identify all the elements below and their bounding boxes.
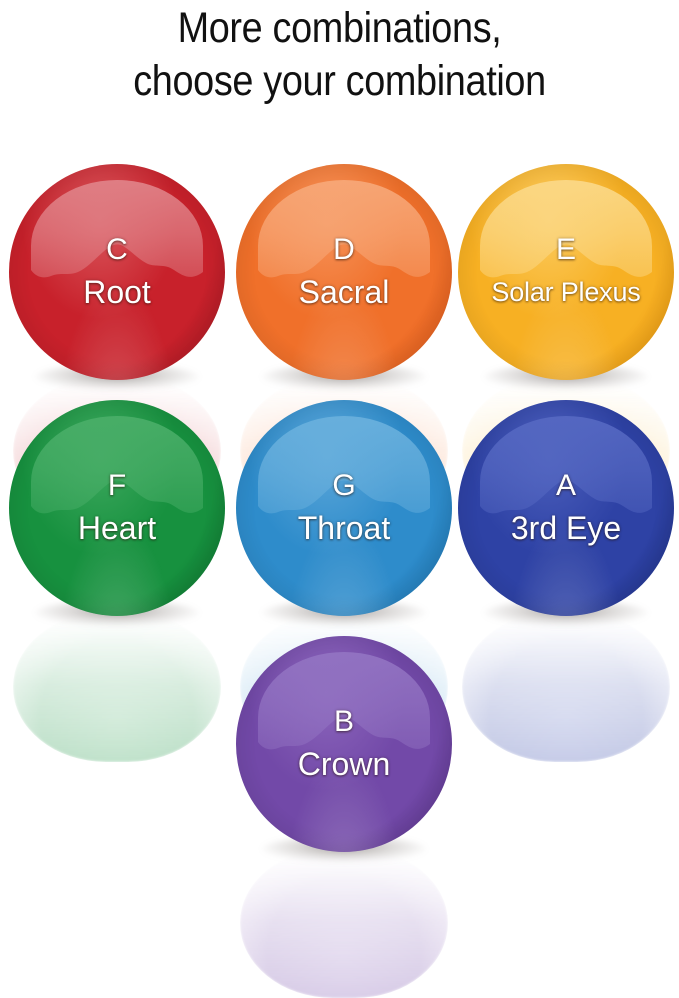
chakra-orb-reflection-third-eye: [462, 612, 670, 762]
chakra-orb-sphere-heart[interactable]: FHeart: [9, 400, 225, 616]
chakra-orb-body-heart: [9, 400, 225, 616]
chakra-orb-reflection-crown: [240, 848, 448, 998]
chakra-orb-solar-plexus[interactable]: ESolar Plexus: [458, 164, 674, 380]
chakra-orb-sphere-sacral[interactable]: DSacral: [236, 164, 452, 380]
chakra-orb-sphere-crown[interactable]: BCrown: [236, 636, 452, 852]
chakra-orb-body-throat: [236, 400, 452, 616]
chakra-orb-crown[interactable]: BCrown: [236, 636, 452, 852]
chakra-orb-root[interactable]: CRoot: [9, 164, 225, 380]
chakra-orb-sphere-solar-plexus[interactable]: ESolar Plexus: [458, 164, 674, 380]
chakra-orb-sphere-throat[interactable]: GThroat: [236, 400, 452, 616]
chakra-orb-grid: CRootDSacralESolar PlexusFHeartGThroatA3…: [0, 0, 679, 899]
chakra-orb-reflection-heart: [13, 612, 221, 762]
chakra-orb-body-root: [9, 164, 225, 380]
chakra-orb-third-eye[interactable]: A3rd Eye: [458, 400, 674, 616]
chakra-orb-body-solar-plexus: [458, 164, 674, 380]
chakra-orb-throat[interactable]: GThroat: [236, 400, 452, 616]
chakra-orb-heart[interactable]: FHeart: [9, 400, 225, 616]
chakra-orb-body-sacral: [236, 164, 452, 380]
chakra-orb-sphere-third-eye[interactable]: A3rd Eye: [458, 400, 674, 616]
chakra-orb-sphere-root[interactable]: CRoot: [9, 164, 225, 380]
chakra-orb-body-third-eye: [458, 400, 674, 616]
chakra-orb-sacral[interactable]: DSacral: [236, 164, 452, 380]
chakra-orb-body-crown: [236, 636, 452, 852]
